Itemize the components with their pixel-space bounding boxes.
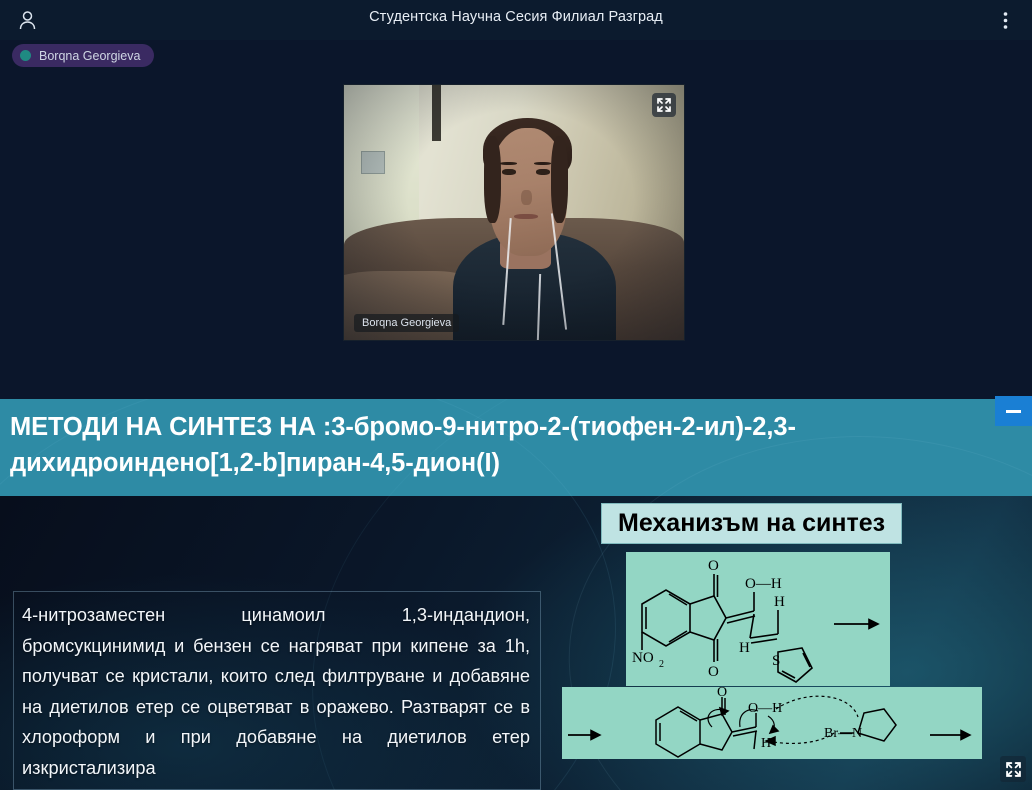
participant-pill[interactable]: Borqna Georgieva [12, 44, 154, 67]
chem-label-oh: O—H [745, 576, 782, 592]
fullscreen-expand-icon[interactable] [652, 93, 676, 117]
chemical-structure-mechanism: O O—H H Br—N [562, 687, 982, 759]
slide-fullscreen-icon[interactable] [1000, 756, 1026, 782]
chem-label-no2-sub: 2 [659, 659, 664, 670]
meeting-title: Студентска Научна Сесия Филиал Разград [0, 9, 1032, 25]
chem-label-o-bottom: O [708, 664, 719, 680]
presence-dot-icon [20, 50, 31, 61]
mechanism-heading: Механизъм на синтез [601, 503, 902, 544]
chem-label-s: S [772, 653, 780, 669]
minimize-icon [1006, 410, 1021, 413]
chem-label-oh-2: O—H [748, 701, 782, 716]
chem-structure-svg-top: O O O—H H H S NO 2 [626, 552, 890, 686]
chem-label-no2: NO [632, 650, 654, 666]
minimize-button[interactable] [995, 396, 1032, 426]
chem-label-o-top: O [708, 558, 719, 574]
chem-label-h-2: H [761, 736, 771, 751]
video-name-tag: Borqna Georgieva [354, 314, 459, 332]
chem-label-brn: Br—N [824, 726, 862, 741]
account-icon[interactable] [14, 7, 40, 33]
more-vertical-icon[interactable] [992, 7, 1018, 33]
video-tile[interactable]: Borqna Georgieva [343, 84, 685, 341]
participant-video-stream [344, 85, 684, 340]
chem-structure-svg-bottom: O O—H H Br—N [562, 687, 982, 759]
chem-label-o-top-2: O [717, 687, 727, 700]
participant-name: Borqna Georgieva [39, 49, 140, 63]
chemical-structure-reactant: O O O—H H H S NO 2 [626, 552, 890, 686]
participant-list: Borqna Georgieva [12, 44, 154, 67]
meeting-screen: Студентска Научна Сесия Филиал Разград B… [0, 0, 1032, 790]
slide-paragraph: 4-нитрозаместен цинамоил 1,3-индандион, … [22, 600, 530, 783]
slide-text-box: 4-нитрозаместен цинамоил 1,3-индандион, … [13, 591, 541, 790]
top-bar: Студентска Научна Сесия Филиал Разград [0, 0, 1032, 40]
chem-label-h-left: H [739, 640, 750, 656]
chem-label-h-right: H [774, 594, 785, 610]
